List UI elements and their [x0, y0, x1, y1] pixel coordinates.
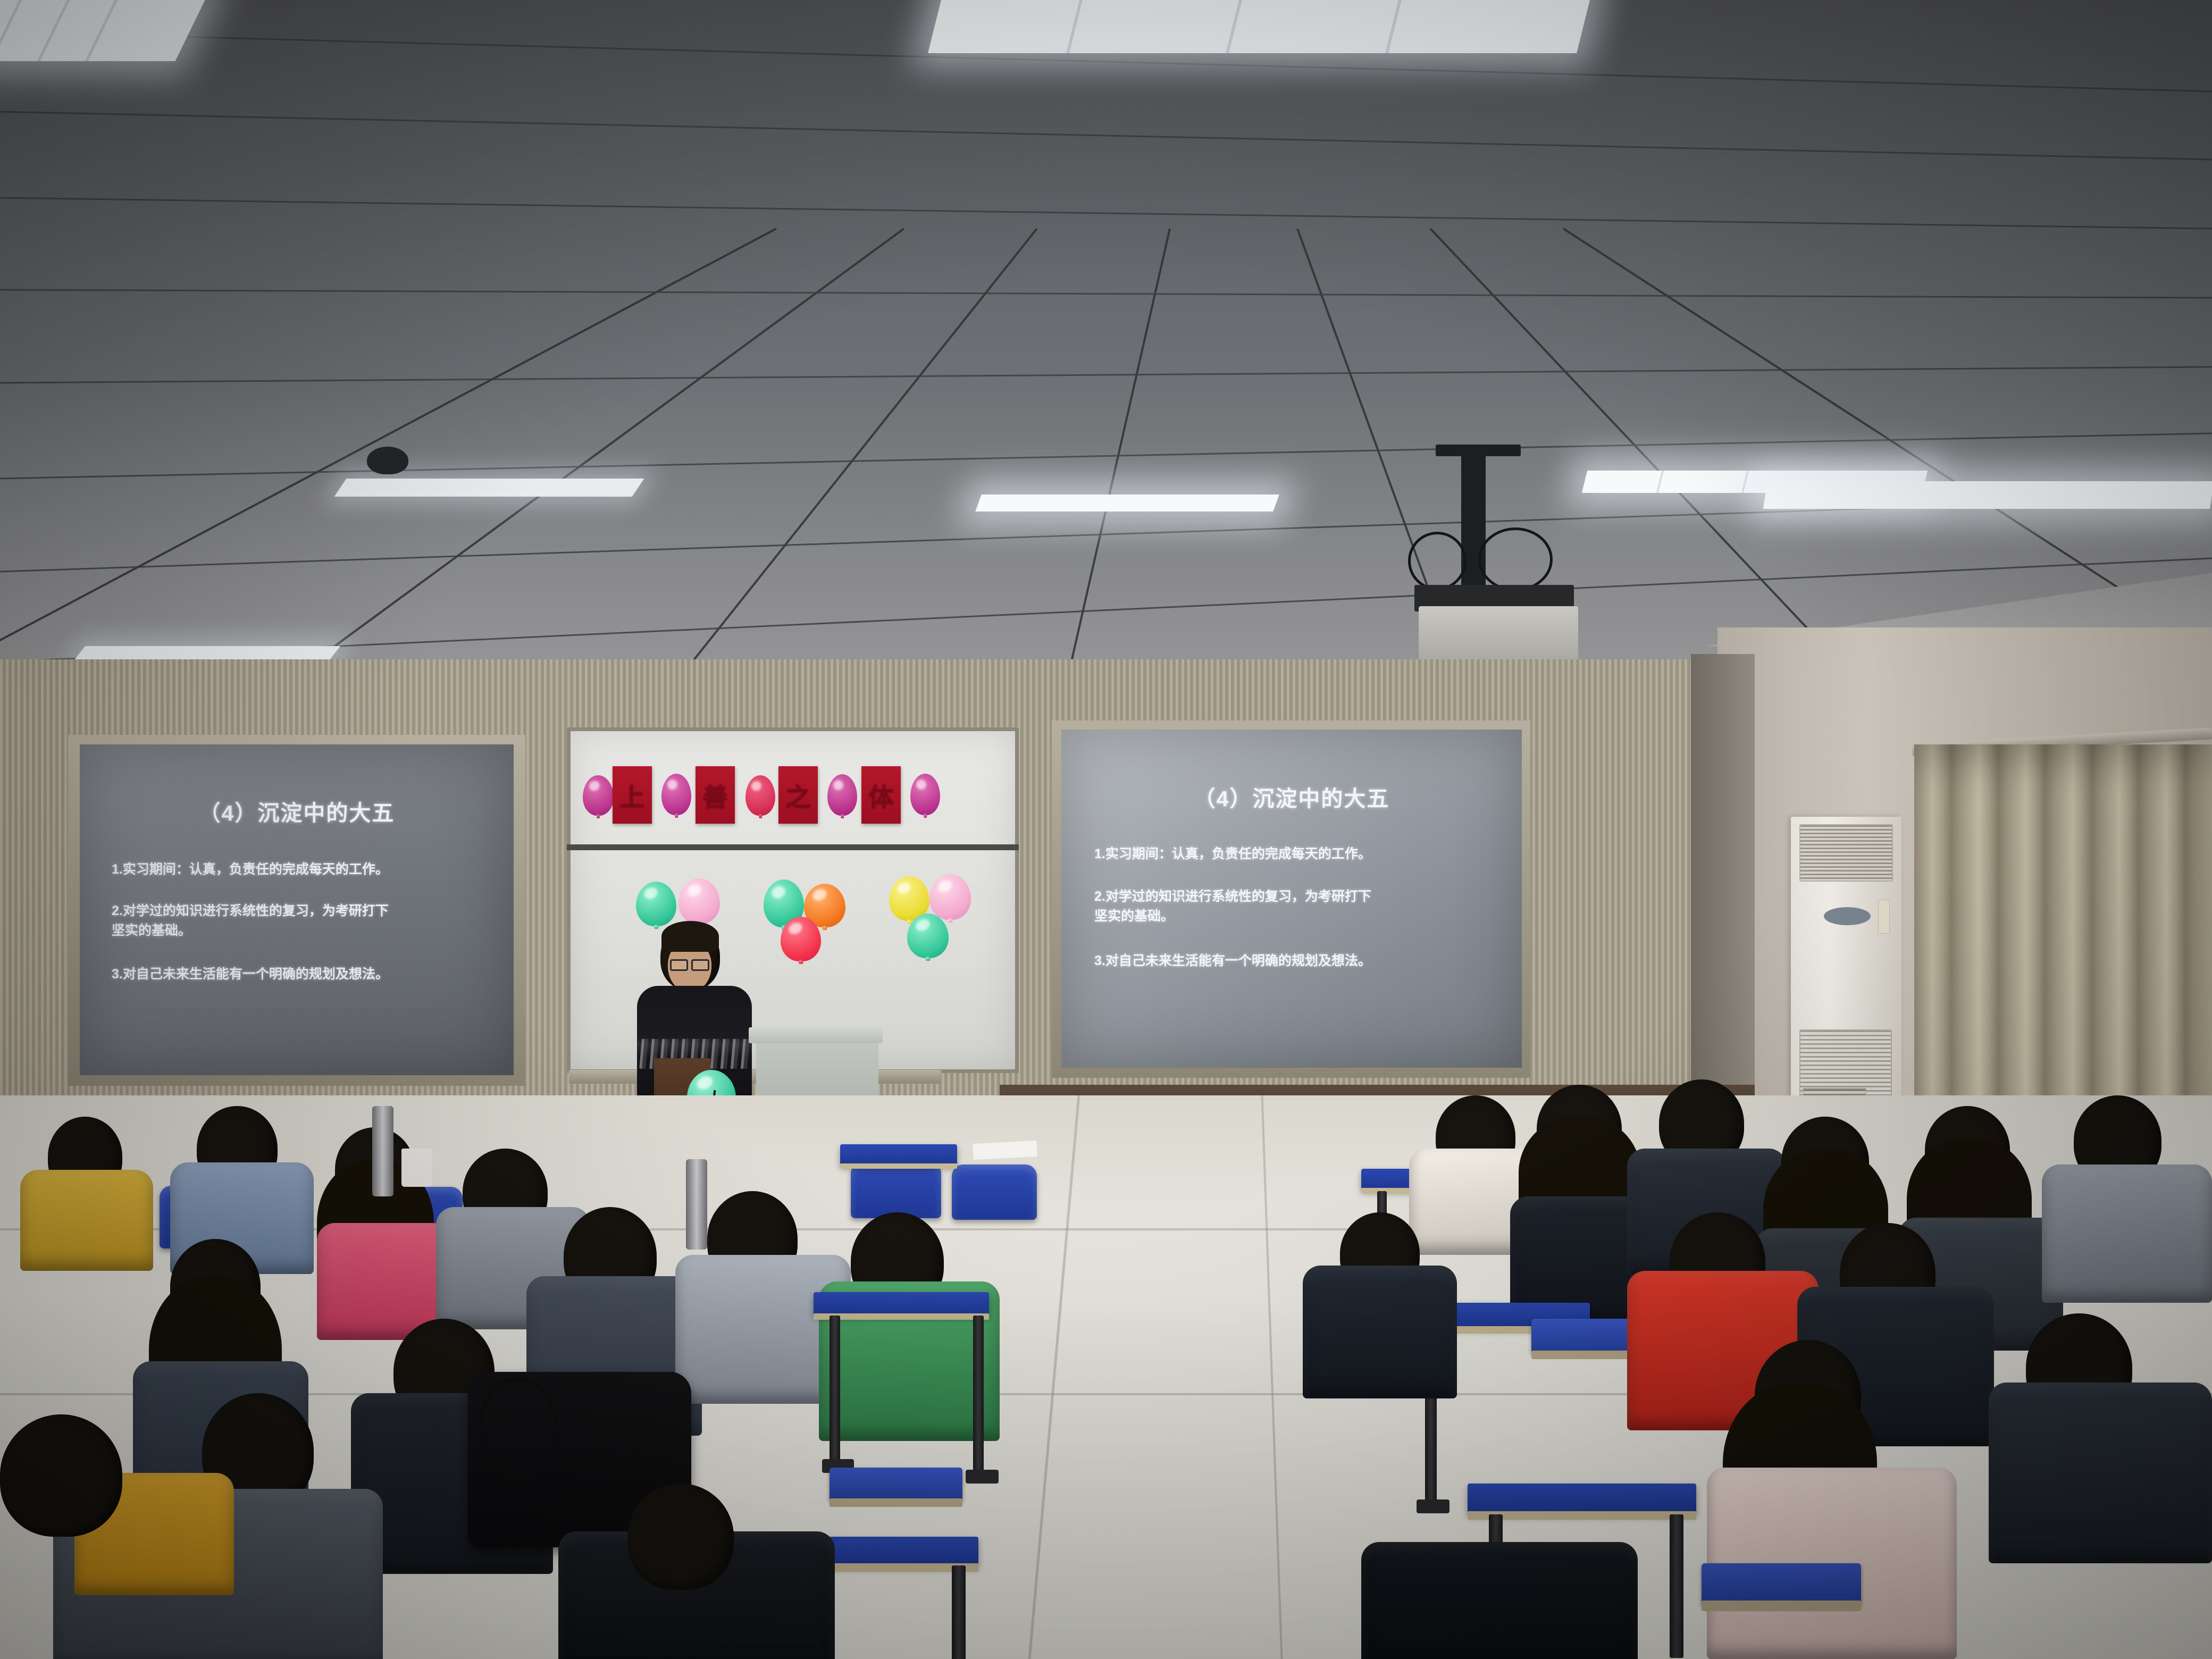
balloon-red: [781, 917, 821, 961]
ceiling-light-fixture: [928, 0, 1593, 53]
ceiling-light-fixture: [975, 495, 1279, 512]
glasses-icon: [691, 959, 709, 971]
desk-foot: [966, 1470, 999, 1484]
floor-tile-line: [1261, 1095, 1283, 1659]
desk-foot: [1417, 1499, 1449, 1513]
seat-pad[interactable]: [1702, 1563, 1861, 1606]
whiteboard-pen-tray: [569, 1070, 941, 1084]
ceiling-light-fixture: [0, 0, 207, 61]
student-coat: [2042, 1164, 2212, 1303]
seat-pad[interactable]: [829, 1468, 962, 1502]
balloon-red: [745, 775, 775, 816]
seat-edge: [829, 1498, 962, 1507]
student-head: [627, 1484, 734, 1590]
presenter-hair: [661, 921, 719, 952]
ceiling-light-fixture: [74, 646, 340, 660]
seat-back[interactable]: [952, 1164, 1037, 1220]
student-desk: [840, 1144, 957, 1166]
ac-label: [1878, 900, 1890, 934]
desk-leg: [829, 1316, 840, 1464]
paper-sheet: [973, 1141, 1037, 1160]
balloon-pink: [827, 774, 857, 816]
student-head: [0, 1414, 122, 1537]
desk-leg: [973, 1316, 984, 1475]
projector-cable: [1408, 532, 1467, 590]
slide-title: （4）沉淀中的大五: [1194, 781, 1390, 812]
glasses-icon: [670, 959, 688, 971]
whiteboard-divider-rail: [567, 844, 1019, 850]
ceiling: [0, 0, 2212, 697]
slide-bullet: 1.实习期间：认真，负责任的完成每天的工作。: [1094, 844, 1498, 864]
ac-vent: [1799, 824, 1893, 882]
balloon-pink: [661, 774, 691, 815]
desk-leg: [1670, 1514, 1683, 1658]
slide-bullet: 3.对自己未来生活能有一个明确的规划及想法。: [112, 965, 490, 984]
slide-bullet: 3.对自己未来生活能有一个明确的规划及想法。: [1094, 951, 1498, 970]
ceiling-camera-icon: [367, 447, 408, 474]
backpack-strap: [479, 1377, 558, 1478]
banner-card: 善: [696, 766, 735, 824]
balloon-pink: [910, 774, 940, 815]
student-desk: [814, 1292, 989, 1316]
student-coat: [20, 1170, 153, 1271]
water-bottle: [372, 1106, 393, 1196]
slide-title: （4）沉淀中的大五: [199, 795, 395, 827]
ac-brand-logo: [1824, 907, 1871, 925]
student-coat: [1989, 1382, 2212, 1563]
slide-bullet: 1.实习期间：认真，负责任的完成每天的工作。: [112, 860, 490, 879]
classroom-scene: （4）沉淀中的大五 1.实习期间：认真，负责任的完成每天的工作。 2.对学过的知…: [0, 0, 2212, 1659]
balloon-green: [636, 882, 676, 926]
slide-bullet-cont: 坚实的基础。: [1094, 907, 1498, 926]
balloon-pink: [678, 878, 720, 924]
balloon-green: [907, 914, 949, 958]
ceiling-light-fixture: [1763, 481, 2212, 509]
slide-bullet: 2.对学过的知识进行系统性的复习，为考研打下: [1094, 887, 1498, 906]
student-coat: [1361, 1542, 1638, 1659]
banner-card: 上: [613, 766, 652, 824]
slide-bullet-cont: 坚实的基础。: [112, 921, 490, 940]
desk-edge: [840, 1163, 957, 1169]
balloon-pink: [583, 775, 614, 816]
left-projection-screen[interactable]: （4）沉淀中的大五 1.实习期间：认真，负责任的完成每天的工作。 2.对学过的知…: [80, 744, 514, 1075]
teacher-desk-top: [749, 1027, 883, 1043]
seat-edge: [1702, 1601, 1861, 1611]
desk-leg: [952, 1565, 966, 1659]
projector: [1419, 606, 1578, 665]
student-coat: [1303, 1266, 1457, 1398]
water-bottle: [686, 1159, 707, 1250]
ceiling-tile-grid: [0, 0, 2212, 697]
banner-card: 体: [861, 766, 901, 824]
right-projection-screen[interactable]: （4）沉淀中的大五 1.实习期间：认真，负责任的完成每天的工作。 2.对学过的知…: [1061, 730, 1522, 1068]
ceiling-light-fixture: [334, 479, 644, 497]
paper-cup: [401, 1149, 432, 1187]
seat-back[interactable]: [851, 1162, 941, 1218]
projector-cable: [1478, 527, 1553, 591]
banner-card: 之: [778, 766, 818, 824]
slide-bullet: 2.对学过的知识进行系统性的复习，为考研打下: [112, 901, 490, 920]
balloon-pink: [929, 874, 971, 920]
student-desk: [1468, 1484, 1696, 1514]
